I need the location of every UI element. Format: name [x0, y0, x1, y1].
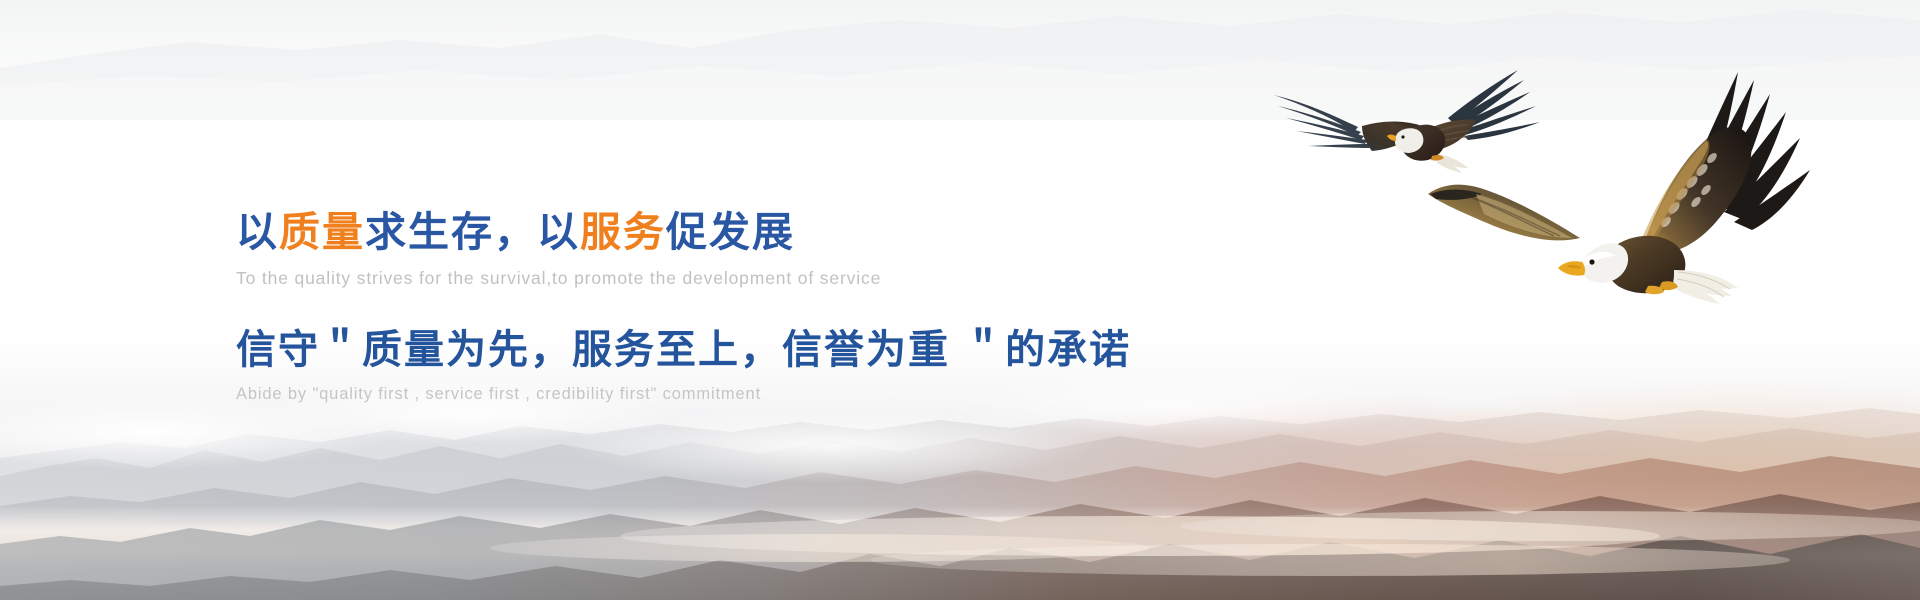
slogan-block: 以质量求生存，以服务促发展 To the quality strives for… — [236, 212, 1236, 404]
bald-eagle-large-icon — [1416, 42, 1836, 310]
subtitle-primary: To the quality strives for the survival,… — [236, 268, 1236, 289]
headline-seg-5: 促发展 — [666, 209, 795, 255]
headline-seg-3: 求生存，以 — [365, 209, 580, 255]
headline-seg-1: 以 — [236, 209, 279, 255]
headline-secondary: 信守＂质量为先，服务至上，信誉为重 ＂的承诺 — [236, 330, 1236, 370]
headline-primary: 以质量求生存，以服务促发展 — [236, 212, 1236, 253]
headline-seg-4-accent: 服务 — [580, 209, 666, 255]
hero-banner: 以质量求生存，以服务促发展 To the quality strives for… — [0, 0, 1920, 600]
subtitle-secondary: Abide by "quality first , service first … — [236, 385, 1236, 404]
headline-seg-2-accent: 质量 — [279, 209, 365, 255]
